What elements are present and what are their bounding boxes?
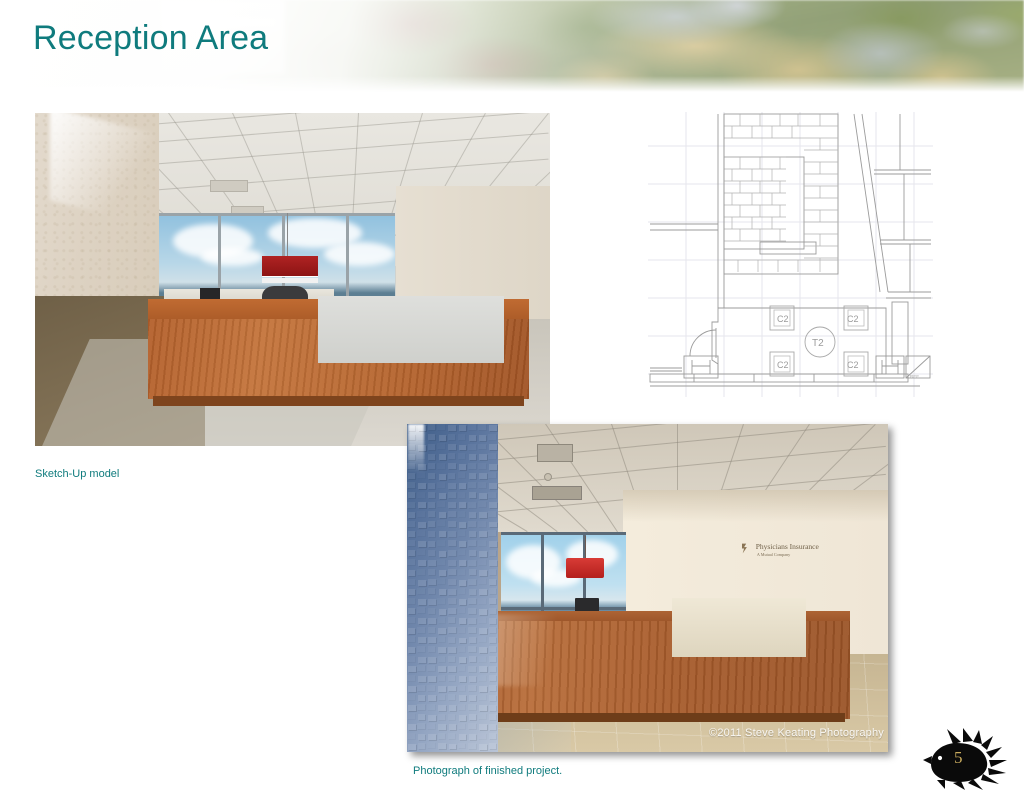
ph-back-wall-shading bbox=[623, 490, 888, 523]
slide: Reception Area bbox=[0, 0, 1024, 804]
banner-bottom-fade bbox=[0, 76, 1024, 92]
page-title: Reception Area bbox=[33, 19, 268, 58]
porcupine-logo: 5 bbox=[923, 728, 1008, 790]
porcupine-logo-icon bbox=[923, 728, 1008, 790]
photograph-caption: Photograph of finished project. bbox=[413, 765, 562, 777]
plan-tag-c2-3: C2 bbox=[777, 360, 789, 370]
ph-transaction-panel bbox=[672, 598, 807, 657]
ph-wall-signage: Physicians Insurance A Mutual Company bbox=[739, 542, 859, 572]
sketchup-caption: Sketch-Up model bbox=[35, 468, 119, 480]
plan-grid bbox=[648, 112, 933, 397]
floor-plan-drawing: C2 C2 C2 C2 bbox=[648, 112, 933, 397]
su-transaction-counter bbox=[318, 296, 503, 363]
plan-chair-c2: C2 bbox=[844, 306, 868, 330]
plan-table-t2: T2 bbox=[805, 327, 835, 357]
floor-plan-svg: C2 C2 C2 C2 bbox=[648, 112, 933, 397]
su-red-pendant-light bbox=[262, 256, 319, 276]
su-pendant-cord bbox=[287, 213, 288, 256]
physicians-insurance-mark-icon bbox=[742, 543, 749, 554]
ph-desk-base bbox=[470, 713, 845, 723]
ph-linear-diffuser bbox=[532, 486, 582, 499]
ph-air-diffuser-icon bbox=[537, 444, 573, 462]
page-number: 5 bbox=[954, 748, 963, 768]
plan-chair-c2: C2 bbox=[770, 352, 794, 376]
plan-tag-c2-2: C2 bbox=[847, 314, 859, 324]
su-pendant-diffuser bbox=[262, 278, 319, 283]
ph-blue-dimensional-tile-wall bbox=[407, 424, 498, 752]
plan-furniture: C2 C2 C2 C2 bbox=[770, 306, 919, 379]
ph-sign-tagline: A Mutual Company bbox=[757, 552, 790, 557]
header-banner: Reception Area bbox=[0, 0, 1024, 92]
plan-chair-c2: C2 bbox=[844, 352, 868, 376]
plan-linework bbox=[650, 114, 931, 386]
finished-project-photograph: Physicians Insurance A Mutual Company ©2… bbox=[407, 424, 888, 752]
plan-tag-t2: T2 bbox=[812, 338, 824, 349]
plan-tag-ref: REF bbox=[910, 374, 919, 379]
photo-watermark: ©2011 Steve Keating Photography bbox=[709, 727, 884, 739]
plan-tag-c2-1: C2 bbox=[777, 314, 789, 324]
ph-red-pendant-light bbox=[566, 558, 604, 578]
plan-chair-c2: C2 bbox=[770, 306, 794, 330]
su-desk-base bbox=[153, 396, 524, 406]
ph-sign-company-name: Physicians Insurance bbox=[756, 542, 819, 551]
plan-tag-c2-4: C2 bbox=[847, 360, 859, 370]
sketchup-model-image bbox=[35, 113, 550, 446]
